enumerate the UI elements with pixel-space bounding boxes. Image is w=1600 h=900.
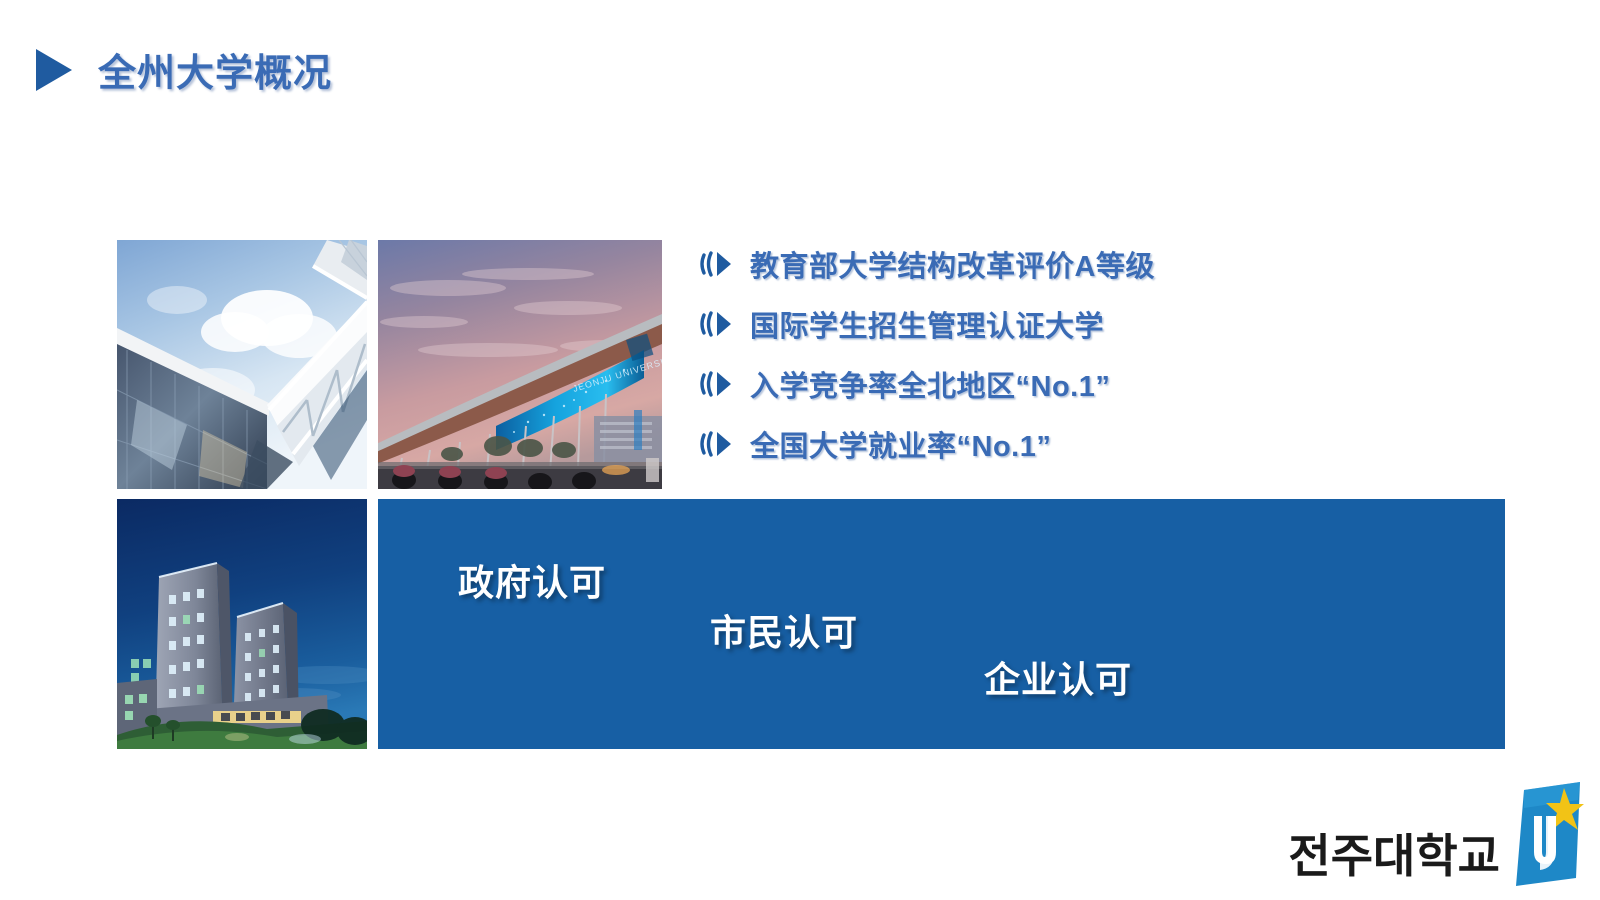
recognition-item-enterprise: 企业认可 [984, 651, 1132, 703]
photo-campus-bridge [117, 240, 367, 489]
list-item-label: 教育部大学结构改革评价A等级 [750, 243, 1155, 285]
photo-campus-bridge-image [117, 240, 367, 489]
list-item-label: 国际学生招生管理认证大学 [750, 303, 1104, 345]
list-item: 入学竞争率全北地区“No.1” [700, 354, 1500, 414]
page-title: 全州大学概况 [98, 42, 332, 97]
photo-entrance-gate-image: JEONJU UNIVERSITY [378, 240, 662, 489]
list-item: 国际学生招生管理认证大学 [700, 294, 1500, 354]
recognition-panel: 政府认可 市民认可 企业认可 [378, 499, 1505, 749]
list-item: 教育部大学结构改革评价A等级 [700, 234, 1500, 294]
photo-dormitory-night-image [117, 499, 367, 749]
recognition-item-government: 政府认可 [458, 554, 606, 606]
jeonju-university-emblem-icon [1510, 782, 1584, 886]
photo-entrance-gate: JEONJU UNIVERSITY [378, 240, 662, 489]
broadcast-arrow-icon [700, 249, 734, 279]
triangle-right-icon [36, 49, 72, 91]
logo-wordmark: 전주대학교 [1288, 834, 1500, 886]
presentation-slide: 全州大学概况 [0, 0, 1600, 900]
list-item-label: 全国大学就业率“No.1” [750, 423, 1051, 465]
recognition-item-citizen: 市民认可 [710, 604, 858, 656]
university-logo: 전주대학교 [1288, 782, 1584, 886]
broadcast-arrow-icon [700, 369, 734, 399]
broadcast-arrow-icon [700, 429, 734, 459]
broadcast-arrow-icon [700, 309, 734, 339]
achievement-bullet-list: 教育部大学结构改革评价A等级 国际学生招生管理认证大学 入学竞争率全北地区“No… [700, 234, 1500, 474]
slide-title-row: 全州大学概况 [36, 42, 332, 97]
list-item-label: 入学竞争率全北地区“No.1” [750, 363, 1110, 405]
list-item: 全国大学就业率“No.1” [700, 414, 1500, 474]
photo-dormitory-night [117, 499, 367, 749]
